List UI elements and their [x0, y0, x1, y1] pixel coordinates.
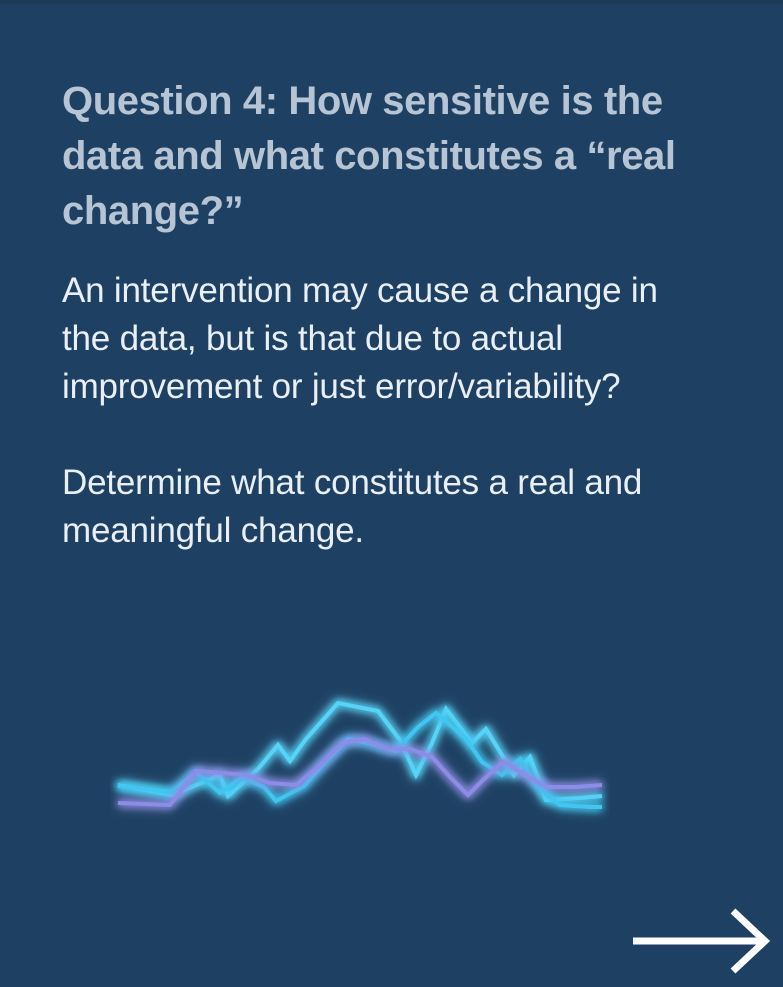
next-arrow-button[interactable]: [625, 905, 775, 977]
line-chart-svg: [110, 665, 610, 835]
body-paragraph-1: An intervention may cause a change in th…: [62, 267, 702, 411]
slide-canvas: Question 4: How sensitive is the data an…: [0, 0, 783, 987]
top-edge-divider: [0, 0, 783, 4]
slide-content: Question 4: How sensitive is the data an…: [62, 74, 732, 555]
body-paragraph-2: Determine what constitutes a real and me…: [62, 459, 702, 555]
chart-series-layer: [118, 703, 602, 807]
line-chart-illustration: [110, 665, 610, 835]
page-title: Question 4: How sensitive is the data an…: [62, 74, 722, 239]
series-bright-cyan: [118, 703, 602, 800]
body-text-block: An intervention may cause a change in th…: [62, 267, 732, 555]
arrow-right-icon[interactable]: [625, 905, 775, 977]
